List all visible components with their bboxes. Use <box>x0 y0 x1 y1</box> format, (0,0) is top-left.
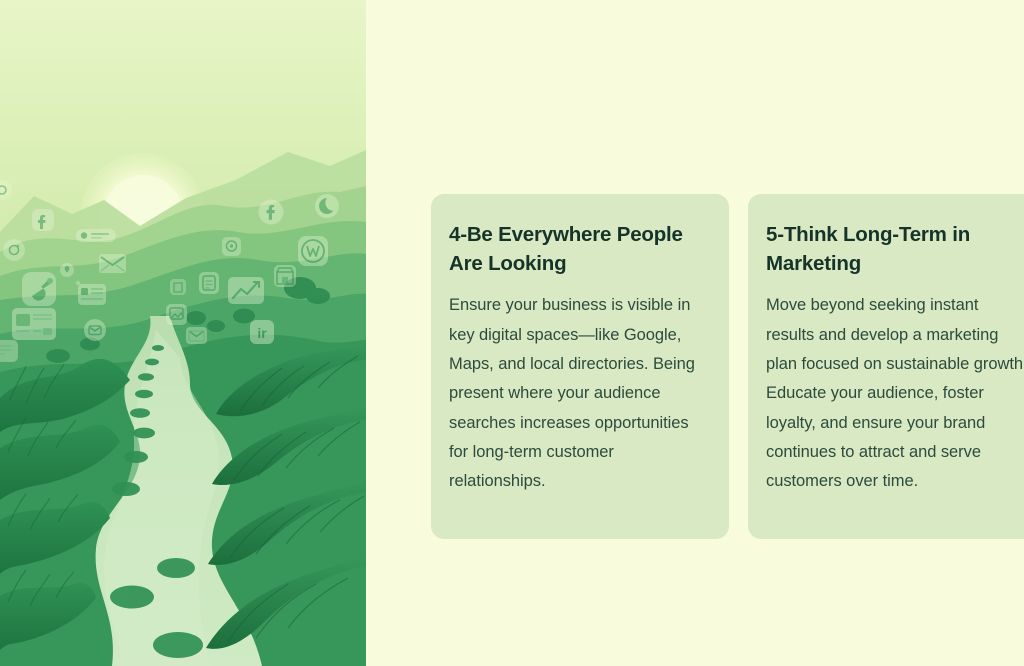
storefront-icon <box>274 265 296 287</box>
facebook-square-icon <box>32 209 54 231</box>
linkedin-icon: ir <box>250 320 274 344</box>
tips-card-list: 4-Be Everywhere People Are Looking Ensur… <box>431 194 1024 539</box>
tip-card-5-title: 5-Think Long-Term in Marketing <box>766 220 1024 278</box>
hero-illustration: ir <box>0 0 366 666</box>
search-bar-icon <box>76 229 116 242</box>
megaphone-icon <box>22 272 56 306</box>
tip-card-4[interactable]: 4-Be Everywhere People Are Looking Ensur… <box>431 194 729 539</box>
tip-card-5-body: Move beyond seeking instant results and … <box>766 291 1024 497</box>
facebook-circle-icon <box>259 200 284 225</box>
document-icon <box>170 279 186 295</box>
contact-card-icon <box>78 284 106 305</box>
browser-window-icon <box>12 308 56 340</box>
instagram-circle-icon <box>3 239 25 261</box>
email-circle-icon <box>84 319 106 341</box>
page-root: ir <box>0 0 1024 666</box>
tip-card-4-body: Ensure your business is visible in key d… <box>449 291 711 497</box>
wordpress-icon <box>298 236 328 266</box>
clock-circle-icon <box>315 194 339 218</box>
envelope-small-icon <box>186 327 207 344</box>
clipboard-icon <box>199 272 219 294</box>
svg-text:ir: ir <box>257 325 267 341</box>
image-icon <box>166 304 187 325</box>
tip-card-4-title: 4-Be Everywhere People Are Looking <box>449 220 711 278</box>
tip-card-5[interactable]: 5-Think Long-Term in Marketing Move beyo… <box>748 194 1024 539</box>
envelope-icon <box>99 254 126 273</box>
analytics-chart-icon <box>228 277 264 304</box>
panel-icon <box>0 340 18 362</box>
chat-bubble-icon <box>222 237 241 256</box>
